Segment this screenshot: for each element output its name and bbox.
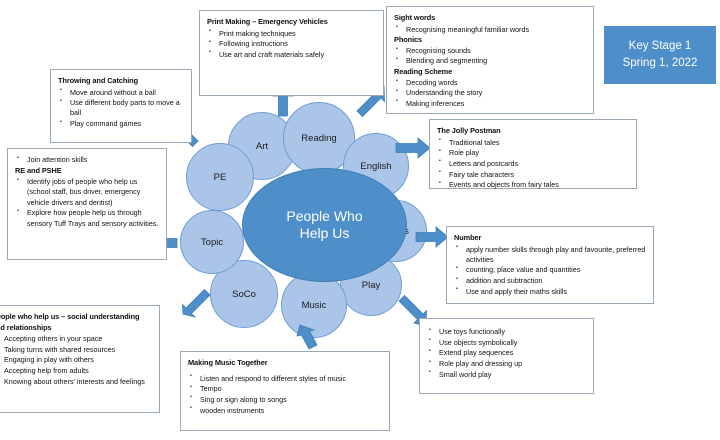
list-item: Taking turns with shared resources [0, 345, 152, 355]
arrow-english-to-jolly-postman [396, 137, 430, 159]
box-re-pshe-heading: RE and PSHE [15, 166, 159, 177]
box-soco-heading: People who help us – social understandin… [0, 312, 152, 333]
subject-circle-topic[interactable]: Topic [180, 210, 244, 274]
list-item: Use different body parts to move a ball [58, 98, 184, 118]
list-item: counting, place value and quantities [454, 265, 646, 275]
box-play: Use toys functionally Use objects symbol… [419, 318, 594, 394]
list-item: Role play [437, 148, 629, 158]
subject-circle-reading-label: Reading [301, 133, 336, 144]
key-stage-badge: Key Stage 1 Spring 1, 2022 [604, 26, 716, 84]
center-circle-people-who-help-us: People Who Help Us [242, 168, 407, 282]
arrow-maths-to-number [416, 226, 448, 248]
box-jolly-postman-list: Traditional tales Role play Letters and … [437, 138, 629, 191]
box-play-list: Use toys functionally Use objects symbol… [427, 327, 586, 380]
list-item: Recognising meaningful familiar words [394, 25, 586, 35]
center-circle-label: People Who Help Us [286, 208, 362, 243]
center-label-line2: Help Us [286, 225, 362, 243]
list-item: Traditional tales [437, 138, 629, 148]
key-stage-badge-line1: Key Stage 1 [629, 38, 692, 55]
box-print-making: Print Making – Emergency Vehicles Print … [199, 10, 384, 96]
subject-circle-soco-label: SoCo [232, 289, 256, 300]
box-reading-heading-sight-words: Sight words [394, 13, 586, 24]
list-item: Blending and segmenting [394, 56, 586, 66]
box-reading-list-sight-words: Recognising meaningful familiar words [394, 25, 586, 35]
list-item: Accepting others in your space [0, 334, 152, 344]
list-item: Fairy tale characters [437, 170, 629, 180]
center-label-line1: People Who [286, 208, 362, 226]
list-item: Join attention skills [15, 155, 159, 165]
box-reading-list-phonics: Recognising sounds Blending and segmenti… [394, 46, 586, 66]
list-item: Identify jobs of people who help us (sch… [15, 177, 159, 208]
list-item: Listen and respond to different styles o… [188, 374, 382, 384]
subject-circle-topic-label: Topic [201, 237, 223, 248]
list-item: Use and apply their maths skills [454, 287, 646, 297]
curriculum-overview-page: People Who Help Us Art Reading English M… [0, 0, 720, 440]
list-item: Explore how people help us through senso… [15, 208, 159, 228]
subject-circle-english-label: English [360, 161, 391, 172]
box-re-and-pshe: Join attention skills RE and PSHE Identi… [7, 148, 167, 260]
list-item: apply number skills through play and fav… [454, 245, 646, 265]
list-item: Accepting help from adults [0, 366, 152, 376]
box-soco-list: Accepting others in your space Taking tu… [0, 334, 152, 387]
box-print-making-heading: Print Making – Emergency Vehicles [207, 17, 376, 28]
list-item: Print making techniques [207, 29, 376, 39]
list-item: Making inferences [394, 99, 586, 109]
box-number-list: apply number skills through play and fav… [454, 245, 646, 298]
box-reading-heading-phonics: Phonics [394, 35, 586, 46]
box-jolly-postman-heading: The Jolly Postman [437, 126, 629, 137]
arrow-soco-to-soco-box [182, 288, 214, 318]
box-throwing-list: Move around without a ball Use different… [58, 88, 184, 130]
subject-circle-art-label: Art [256, 141, 268, 152]
box-music-list: Listen and respond to different styles o… [188, 374, 382, 416]
list-item: addition and subtraction [454, 276, 646, 286]
box-jolly-postman: The Jolly Postman Traditional tales Role… [429, 119, 637, 189]
list-item: Knowing about others' interests and feel… [0, 377, 152, 387]
box-reading-heading-scheme: Reading Scheme [394, 67, 586, 78]
list-item: wooden instruments [188, 406, 382, 416]
box-throwing-heading: Throwing and Catching [58, 76, 184, 87]
list-item: Use art and craft materials safely [207, 50, 376, 60]
list-item: Play command games [58, 119, 184, 129]
box-soco-social-understanding: People who help us – social understandin… [0, 305, 160, 413]
box-making-music-together: Making Music Together Listen and respond… [180, 351, 390, 431]
list-item: Role play and dressing up [427, 359, 586, 369]
list-item: Move around without a ball [58, 88, 184, 98]
box-re-pshe-lead-list: Join attention skills [15, 155, 159, 165]
subject-circle-pe[interactable]: PE [186, 143, 254, 211]
box-music-heading: Making Music Together [188, 358, 382, 369]
box-re-pshe-list: Identify jobs of people who help us (sch… [15, 177, 159, 229]
arrow-music-to-making-music [295, 325, 319, 353]
list-item: Small world play [427, 370, 586, 380]
box-number: Number apply number skills through play … [446, 226, 654, 304]
subject-circle-music-label: Music [302, 300, 327, 311]
subject-circle-pe-label: PE [214, 172, 227, 183]
list-item: Understanding the story [394, 88, 586, 98]
list-item: Extend play sequences [427, 348, 586, 358]
list-item: Use toys functionally [427, 327, 586, 337]
box-throwing-and-catching: Throwing and Catching Move around withou… [50, 69, 192, 143]
list-item: Recognising sounds [394, 46, 586, 56]
box-number-heading: Number [454, 233, 646, 244]
box-reading-list-scheme: Decoding words Understanding the story M… [394, 78, 586, 109]
list-item: Engaging in play with others [0, 355, 152, 365]
box-reading-sight-words: Sight words Recognising meaningful famil… [386, 6, 594, 114]
list-item: Following instructions [207, 39, 376, 49]
list-item: Sing or sign along to songs [188, 395, 382, 405]
list-item: Events and objects from fairy tales [437, 180, 629, 190]
list-item: Tempo [188, 384, 382, 394]
list-item: Letters and postcards [437, 159, 629, 169]
key-stage-badge-line2: Spring 1, 2022 [623, 55, 698, 72]
list-item: Use objects symbolically [427, 338, 586, 348]
list-item: Decoding words [394, 78, 586, 88]
box-print-making-list: Print making techniques Following instru… [207, 29, 376, 61]
subject-circle-play-label: Play [362, 280, 380, 291]
